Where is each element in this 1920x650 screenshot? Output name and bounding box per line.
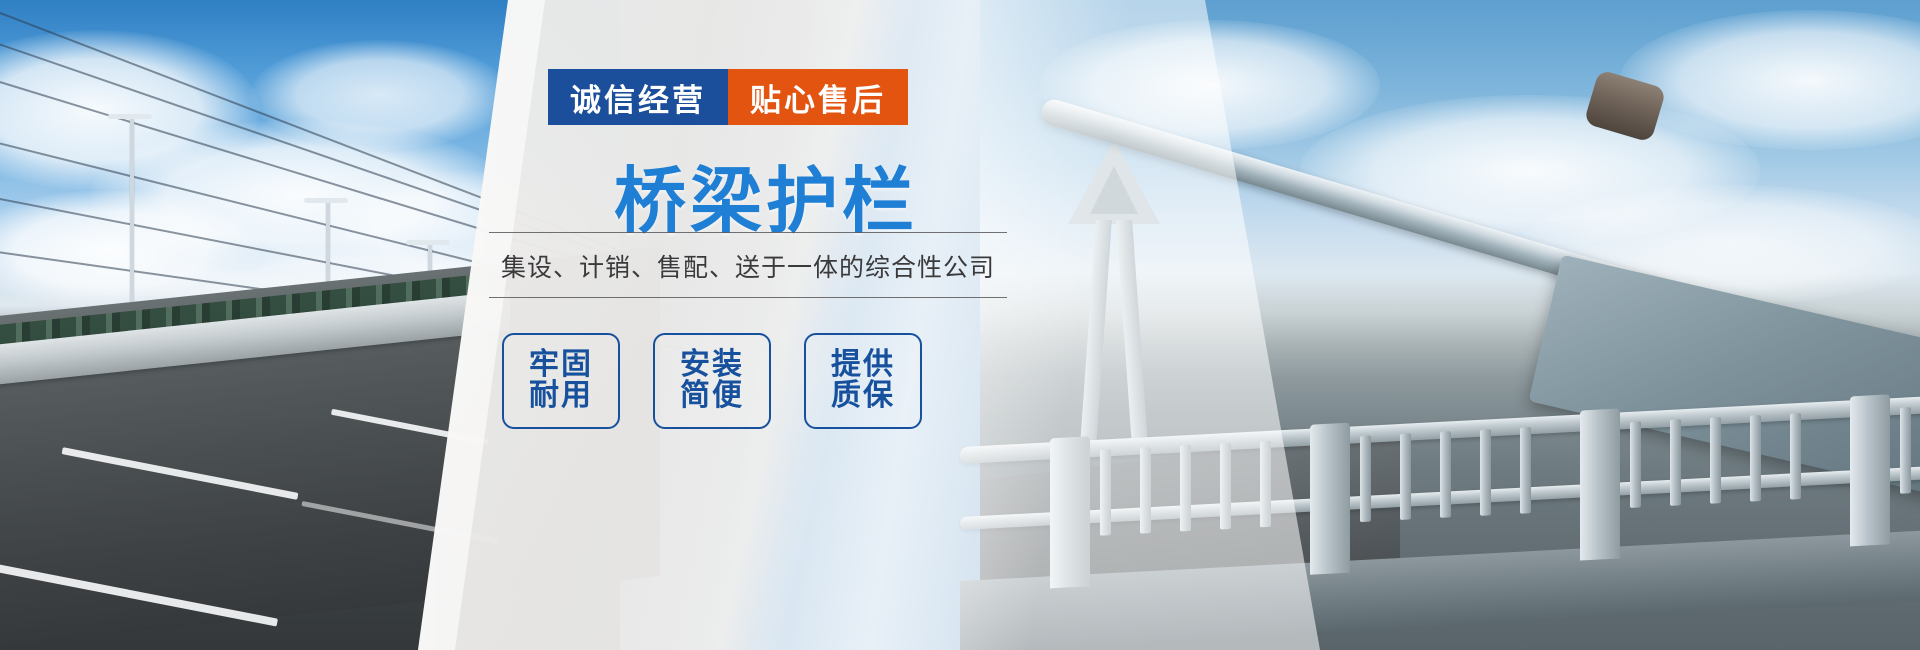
- feature-box-durable: 牢固 耐用: [502, 333, 620, 429]
- tag-group: 诚信经营 贴心售后: [548, 69, 908, 125]
- promo-banner: 诚信经营 贴心售后 桥梁护栏 集设、计销、售配、送于一体的综合性公司 牢固 耐用…: [0, 0, 1920, 650]
- tag-aftersales: 贴心售后: [728, 69, 908, 125]
- feature-line-1: 安装: [680, 350, 744, 381]
- banner-subtitle: 集设、计销、售配、送于一体的综合性公司: [489, 233, 1007, 297]
- banner-content: 诚信经营 贴心售后 桥梁护栏 集设、计销、售配、送于一体的综合性公司 牢固 耐用…: [0, 0, 1920, 650]
- tag-integrity: 诚信经营: [548, 69, 728, 125]
- feature-line-1: 牢固: [529, 350, 593, 381]
- feature-line-2: 简便: [680, 381, 744, 412]
- feature-line-2: 耐用: [529, 381, 593, 412]
- divider-top: [489, 232, 1007, 233]
- feature-group: 牢固 耐用 安装 简便 提供 质保: [502, 333, 922, 429]
- feature-line-1: 提供: [831, 350, 895, 381]
- feature-line-2: 质保: [831, 381, 895, 412]
- divider-bottom: [489, 297, 1007, 298]
- feature-box-warranty: 提供 质保: [804, 333, 922, 429]
- subtitle-block: 集设、计销、售配、送于一体的综合性公司: [489, 232, 1007, 298]
- feature-box-easy-install: 安装 简便: [653, 333, 771, 429]
